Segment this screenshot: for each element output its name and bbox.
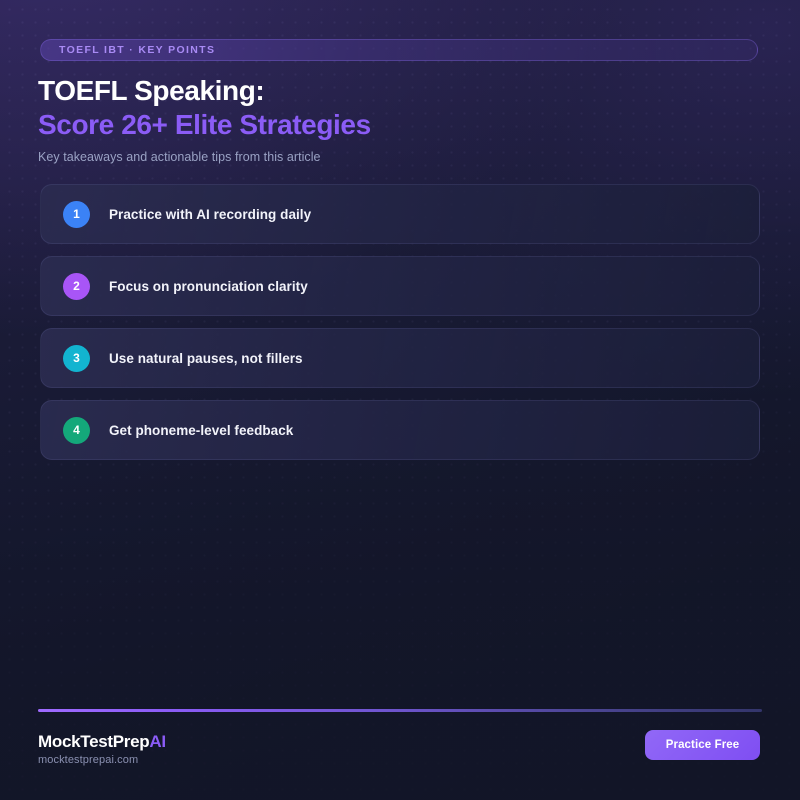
list-item[interactable]: 3 Use natural pauses, not fillers bbox=[40, 328, 760, 388]
title-line-primary: TOEFL Speaking: bbox=[38, 74, 371, 108]
key-point-label: Practice with AI recording daily bbox=[109, 207, 311, 222]
list-item[interactable]: 4 Get phoneme-level feedback bbox=[40, 400, 760, 460]
page-subtitle: Key takeaways and actionable tips from t… bbox=[38, 150, 371, 164]
brand-website-url: mocktestprepai.com bbox=[38, 754, 166, 766]
eyebrow-badge: TOEFL IBT · KEY POINTS bbox=[40, 39, 758, 61]
key-points-list: 1 Practice with AI recording daily 2 Foc… bbox=[40, 184, 760, 460]
key-point-number-badge: 2 bbox=[63, 273, 90, 300]
list-item[interactable]: 1 Practice with AI recording daily bbox=[40, 184, 760, 244]
page-title: TOEFL Speaking: Score 26+ Elite Strategi… bbox=[38, 74, 371, 164]
key-point-label: Focus on pronunciation clarity bbox=[109, 279, 308, 294]
key-point-label: Use natural pauses, not fillers bbox=[109, 351, 303, 366]
key-point-number-badge: 3 bbox=[63, 345, 90, 372]
practice-free-button[interactable]: Practice Free bbox=[645, 730, 760, 760]
key-point-number-badge: 1 bbox=[63, 201, 90, 228]
footer-branding: MockTestPrepAI mocktestprepai.com bbox=[38, 731, 166, 766]
key-point-label: Get phoneme-level feedback bbox=[109, 423, 293, 438]
footer-divider bbox=[38, 709, 762, 712]
brand-logo: MockTestPrepAI bbox=[38, 731, 166, 752]
eyebrow-badge-label: TOEFL IBT · KEY POINTS bbox=[59, 44, 215, 56]
key-point-number-badge: 4 bbox=[63, 417, 90, 444]
slide-canvas: TOEFL IBT · KEY POINTS TOEFL Speaking: S… bbox=[0, 0, 800, 800]
slide-content: TOEFL IBT · KEY POINTS TOEFL Speaking: S… bbox=[0, 0, 800, 800]
brand-logo-accent: AI bbox=[149, 732, 165, 751]
list-item[interactable]: 2 Focus on pronunciation clarity bbox=[40, 256, 760, 316]
title-line-accent: Score 26+ Elite Strategies bbox=[38, 108, 371, 142]
brand-logo-main: MockTestPrep bbox=[38, 732, 149, 751]
